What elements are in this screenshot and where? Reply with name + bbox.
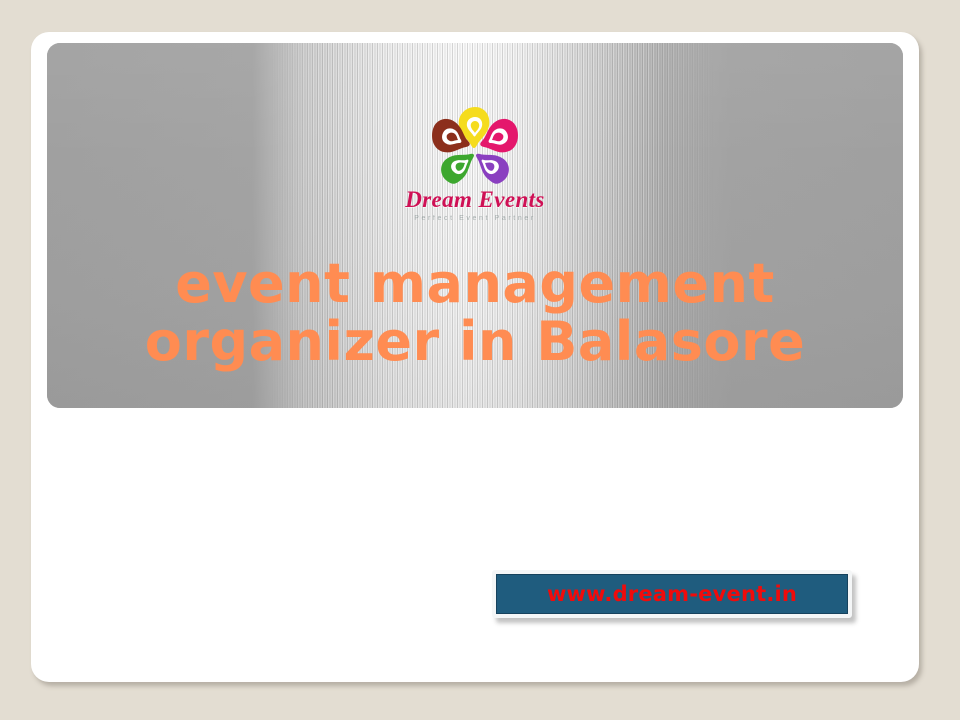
- petal-bottom-right: [476, 154, 509, 184]
- website-url-button[interactable]: www.dream-event.in: [492, 570, 852, 618]
- page-title-line-2: organizer in Balasore: [55, 313, 895, 371]
- brand-logo: Dream Events Perfect Event Partner: [47, 101, 903, 222]
- brand-tagline: Perfect Event Partner: [414, 215, 536, 222]
- page-title-line-1: event management: [55, 255, 895, 313]
- page-title: event management organizer in Balasore: [47, 255, 903, 372]
- dream-events-flower-logo: [423, 101, 527, 187]
- slide-root: Dream Events Perfect Event Partner event…: [0, 0, 960, 720]
- petal-bottom-left: [441, 154, 474, 184]
- brand-name: Dream Events: [405, 188, 545, 211]
- title-banner: Dream Events Perfect Event Partner event…: [47, 43, 903, 408]
- website-url-label: www.dream-event.in: [547, 582, 797, 606]
- slide-card: Dream Events Perfect Event Partner event…: [31, 32, 919, 682]
